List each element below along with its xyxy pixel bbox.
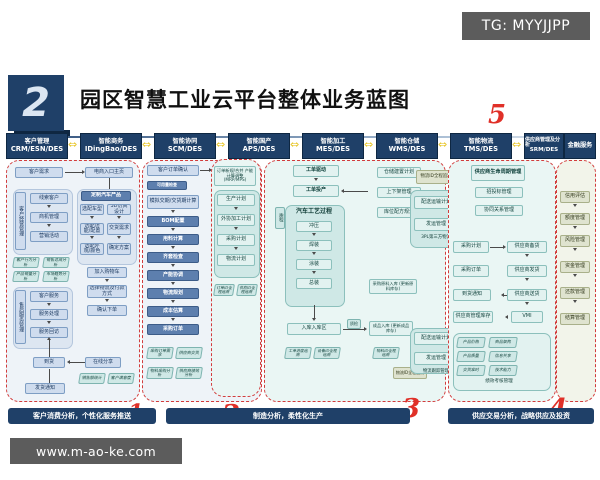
scm-step-5[interactable]: 物流规划 xyxy=(147,288,199,299)
crm-product-3[interactable]: 交货需求 xyxy=(107,223,131,235)
arrow-plan-stock xyxy=(490,247,504,248)
arrowhead-5 xyxy=(90,216,94,219)
srm-purchase-plan[interactable]: 采购计划 xyxy=(453,241,489,253)
mes-process-3[interactable]: 总装 xyxy=(296,278,332,289)
crm-bottom-1[interactable]: 客户满意度 xyxy=(107,373,135,384)
arrowhead-28 xyxy=(312,233,316,236)
srm-purchase-order[interactable]: 采购订单 xyxy=(453,265,489,277)
zone-srm: 供应商生命周期管理 招投标管理 协同关系管理 采购计划 供应商备货 采购订单 供… xyxy=(448,160,556,402)
finance-item-5[interactable]: 结算管理 xyxy=(560,313,590,325)
column-header-scm[interactable]: 智能协同 SCM/DES xyxy=(154,133,216,159)
arrowhead-34 xyxy=(525,254,529,257)
scm-step-7[interactable]: 采购订单 xyxy=(147,324,199,335)
mes-analysis-0[interactable]: 工单进度追溯 xyxy=(284,347,312,359)
aps-plan-1[interactable]: 外协加工计划 xyxy=(217,214,255,226)
arrowhead-4 xyxy=(47,224,51,227)
crm-product-5[interactable]: 确定方案 xyxy=(107,243,131,255)
arrowhead-41 xyxy=(573,248,577,251)
scm-analysis-3[interactable]: 供应商绩效分析 xyxy=(175,367,203,379)
column-header-idingbao[interactable]: 智能商务 IDingBao/DES xyxy=(80,133,142,159)
arrowhead-23 xyxy=(234,207,238,210)
srm-lifecycle-0[interactable]: 招投标管理 xyxy=(475,187,523,198)
finance-item-3[interactable]: 资金管理 xyxy=(560,261,590,273)
crm-product-4[interactable]: 选配外观/颜色 xyxy=(80,243,104,255)
scm-step-6[interactable]: 成本估算 xyxy=(147,306,199,317)
mes-process-0[interactable]: 冲压 xyxy=(296,221,332,232)
blueprint-diagram: 客户管理 CRM/ESN/DES ⇔ 智能商务 IDingBao/DES ⇔ 智… xyxy=(4,132,596,424)
crm-product-2[interactable]: 选配功能/配置 xyxy=(80,223,104,235)
crm-mgmt-1[interactable]: 商机管理 xyxy=(30,212,68,223)
arrowhead-12 xyxy=(47,321,51,324)
scm-step-1[interactable]: BOM配置 xyxy=(147,216,199,227)
banner-crm: 客户消费分析，个性化服务推送 xyxy=(8,408,156,424)
column-header-aps[interactable]: 智能国产 APS/DES xyxy=(228,133,290,159)
mes-process-1[interactable]: 焊装 xyxy=(296,240,332,251)
arrowhead-40 xyxy=(573,226,577,229)
mes-finished[interactable]: 成品入库 (更新成品库存) xyxy=(369,321,413,336)
arrowhead-9 xyxy=(105,279,109,282)
mes-wo-start[interactable]: 工单投产 xyxy=(293,185,339,197)
telegram-watermark-badge: TG: MYYJJPP xyxy=(462,12,590,40)
finance-item-0[interactable]: 信用评估 xyxy=(560,191,590,203)
crm-analysis-1[interactable]: 销售达成分析 xyxy=(42,257,70,268)
crm-analysis-0[interactable]: 客户行为分析 xyxy=(12,257,40,268)
crm-cart[interactable]: 加入购物车 xyxy=(87,267,127,278)
scm-step-4[interactable]: 产能协调 xyxy=(147,270,199,281)
arrowhead-42 xyxy=(573,274,577,277)
arrowhead-22 xyxy=(171,318,175,321)
srm-vendor-ship[interactable]: 供应商发货 xyxy=(507,265,547,277)
crm-share[interactable]: 在线分享 xyxy=(85,357,121,368)
crm-service-1[interactable]: 服务处理 xyxy=(30,309,68,320)
column-header-strip: 客户管理 CRM/ESN/DES ⇔ 智能商务 IDingBao/DES ⇔ 智… xyxy=(4,132,596,158)
header-arrow-icon-4: ⇔ xyxy=(290,140,299,149)
arrowhead-33 xyxy=(503,245,506,249)
arrowhead-21 xyxy=(171,300,175,303)
arrowhead-20 xyxy=(171,282,175,285)
arrowhead-6 xyxy=(117,216,121,219)
srm-arrive-notice[interactable]: 到货通知 xyxy=(453,289,491,301)
arrowhead-32 xyxy=(364,327,367,331)
scm-analysis-2[interactable]: 物料采购分析 xyxy=(146,367,174,379)
crm-demand[interactable]: 客户需求 xyxy=(15,167,63,178)
srm-kpi-2[interactable]: 产品质量 xyxy=(456,351,486,362)
site-watermark: www.m-ao-ke.com xyxy=(10,438,182,464)
scm-step-0[interactable]: 模拟交期/交货期计算 xyxy=(147,195,199,209)
crm-analysis-2[interactable]: 产品销量分析 xyxy=(12,271,40,282)
header-arrow-icon-7: ⇔ xyxy=(512,140,521,149)
aps-trace-0[interactable]: 订单ID全程追溯 xyxy=(213,284,235,296)
srm-vendor-supply[interactable]: 供应商送货 xyxy=(507,289,547,301)
arrowhead-24 xyxy=(234,227,238,230)
page-title: 园区智慧工业云平台整体业务蓝图 xyxy=(80,84,410,114)
column-header-srm[interactable]: 供应商管理及分析 SRM/DES xyxy=(524,133,564,159)
scm-feasible[interactable]: 可用量检查 xyxy=(147,181,187,190)
crm-order[interactable]: 确认下单 xyxy=(87,305,127,316)
slide-canvas: 2 园区智慧工业云平台整体业务蓝图 5 客户管理 CRM/ESN/DES ⇔ 智… xyxy=(0,58,600,430)
arrowhead-25 xyxy=(234,247,238,250)
aps-plan-2[interactable]: 采购计划 xyxy=(217,234,255,246)
zone-finance: 信用评估 额度管理 风险管理 资金管理 还款管理 结算管理 xyxy=(556,160,596,402)
arrowhead-19 xyxy=(171,264,175,267)
header-arrow-icon-5: ⇔ xyxy=(364,140,373,149)
srm-kpi-4[interactable]: 交货准时 xyxy=(456,365,486,376)
zone-scm: 客户订单确认 可用量检查 模拟交期/交货期计算 BOM配置 用料计算 齐套检查 … xyxy=(142,160,262,402)
arrowhead-3 xyxy=(47,205,51,208)
scm-analysis-1[interactable]: 供应商交货 xyxy=(175,347,203,359)
crm-mgmt-0[interactable]: 线索客户 xyxy=(30,193,68,204)
arrowhead-7 xyxy=(90,236,94,239)
banner-supply: 供应交易分析，战略供应及投资 xyxy=(448,408,594,424)
arrowhead-17 xyxy=(171,228,175,231)
aps-plan-3[interactable]: 物流计划 xyxy=(217,254,255,266)
header-arrow-icon-3: ⇔ xyxy=(216,140,225,149)
srm-lifecycle-1[interactable]: 协同关系管理 xyxy=(475,205,523,216)
column-header-wms[interactable]: 智能仓储 WMS/DES xyxy=(376,133,438,159)
arrowhead-29 xyxy=(312,252,316,255)
srm-kpi-label: 绩效考核管理 xyxy=(469,378,529,387)
crm-arrive[interactable]: 到货 xyxy=(33,357,65,368)
column-header-tms[interactable]: 智能物流 TMS/DES xyxy=(450,133,512,159)
mes-wo-drive[interactable]: 工单驱动 xyxy=(293,165,339,177)
header-arrow-icon-6: ⇔ xyxy=(438,140,447,149)
crm-product-label: 定制汽车产品 xyxy=(81,191,131,201)
arrowhead-30 xyxy=(312,271,316,274)
finance-item-1[interactable]: 额度管理 xyxy=(560,213,590,225)
crm-portal[interactable]: 电商入口主页 xyxy=(85,167,133,178)
arrow-demand-portal xyxy=(65,172,83,173)
zone-aps: 订单新规/合并 产能计算调整 (MRP/MPS) 生产计划 外协加工计划 采购计… xyxy=(211,159,261,397)
arrowhead-43 xyxy=(573,300,577,303)
srm-kpi-0[interactable]: 产品价格 xyxy=(456,337,486,348)
mes-qc-label: 质检 xyxy=(275,207,285,229)
scm-confirm[interactable]: 客户订单确认 xyxy=(147,165,199,176)
arrowhead-18 xyxy=(171,246,175,249)
arrowhead-37 xyxy=(525,302,529,305)
arrow-share-arrive xyxy=(70,362,86,363)
wms-item-0[interactable]: 仓储建置计划 xyxy=(377,167,421,178)
arrowhead-35 xyxy=(525,278,529,281)
crm-analysis-3[interactable]: 市场趋势分析 xyxy=(42,271,70,282)
finance-item-4[interactable]: 还款管理 xyxy=(560,287,590,299)
crm-product-0[interactable]: 选配车型 xyxy=(80,204,104,215)
srm-kpi-5[interactable]: 技术能力 xyxy=(488,365,518,376)
mes-stock-in[interactable]: 入库入库区 xyxy=(287,323,341,335)
arrow-process-stockin xyxy=(314,305,315,319)
scm-step-2[interactable]: 用料计算 xyxy=(147,234,199,245)
srm-kpi-3[interactable]: 信息共享 xyxy=(488,351,518,362)
mes-analysis-1[interactable]: 设备ID全程追溯 xyxy=(313,347,341,359)
arrow-service-arrive xyxy=(49,339,50,357)
scm-analysis-0[interactable]: 采购订单需求 xyxy=(146,347,174,359)
header-arrow-icon-2: ⇔ xyxy=(142,140,151,149)
srm-vendor-stock[interactable]: 供应商备货 xyxy=(507,241,547,253)
arrowhead-11 xyxy=(47,303,51,306)
mes-qc2: 质检 xyxy=(347,319,361,329)
arrow-into-wo xyxy=(344,191,368,192)
crm-ship-notice[interactable]: 发货通知 xyxy=(25,383,65,394)
screenshot-root: TG: MYYJJPP 2 园区智慧工业云平台整体业务蓝图 5 客户管理 CRM… xyxy=(0,0,600,480)
mes-process-2[interactable]: 涂装 xyxy=(296,259,332,270)
srm-vmi[interactable]: VMI xyxy=(511,311,543,323)
column-header-finance[interactable]: 金融服务 xyxy=(564,133,596,159)
arrowhead-26 xyxy=(314,178,318,181)
crm-mgmt-label: 客户经营管理 xyxy=(15,192,26,250)
mes-process-label: 汽车工艺过程 xyxy=(287,207,341,218)
crm-service-label: 售后服务管理 xyxy=(15,290,26,344)
crm-pay[interactable]: 选择物流及付款方式 xyxy=(87,285,127,298)
srm-lifecycle-label: 供应商生命周期管理 xyxy=(471,165,525,181)
aps-trace-1[interactable]: 供应ID全程追溯 xyxy=(236,284,258,296)
column-header-mes[interactable]: 智能加工 MES/DES xyxy=(302,133,364,159)
crm-mgmt-2[interactable]: 营销活动 xyxy=(30,231,68,242)
finance-item-2[interactable]: 风险管理 xyxy=(560,235,590,247)
arrowhead-39 xyxy=(573,204,577,207)
arrow-supply-notice xyxy=(503,295,507,296)
crm-product-1[interactable]: 3D仿真设计 xyxy=(107,204,131,215)
mes-material-in[interactable]: 采购原料入库 (更新原料库存) xyxy=(369,279,417,294)
header-arrow-icon-1: ⇔ xyxy=(68,140,77,149)
aps-mrp-label: 订单新规/合并 产能计算调整 (MRP/MPS) xyxy=(214,166,256,186)
arrowhead-14 xyxy=(47,337,51,340)
column-header-crm[interactable]: 客户管理 CRM/ESN/DES xyxy=(6,133,68,159)
section-number-badge: 2 xyxy=(8,75,64,131)
arrowhead-10 xyxy=(105,299,109,302)
crm-bottom-0[interactable]: 销售额统计 xyxy=(78,373,106,384)
mes-analysis-2[interactable]: 物料ID全程追溯 xyxy=(372,347,400,359)
arrowhead-38 xyxy=(505,315,508,319)
arrowhead-16 xyxy=(171,210,175,213)
marker-5: 5 xyxy=(488,100,506,130)
crm-service-0[interactable]: 客户服务 xyxy=(30,291,68,302)
arrow-arrive-notice xyxy=(49,369,50,383)
arrowhead-31 xyxy=(312,318,316,321)
arrow-stockin-finished xyxy=(343,329,365,330)
aps-plan-0[interactable]: 生产计划 xyxy=(217,194,255,206)
srm-manage-stock[interactable]: 供应商管理库存 xyxy=(453,311,493,323)
scm-step-3[interactable]: 齐套检查 xyxy=(147,252,199,263)
zone-crm: 客户需求 电商入口主页 客户经营管理 线索客户 商机管理 营销活动 定制汽车产品… xyxy=(6,160,140,402)
arrowhead-8 xyxy=(117,236,121,239)
banner-manufacturing: 制造分析，柔性化生产 xyxy=(166,408,410,424)
srm-kpi-1[interactable]: 商品架构 xyxy=(488,337,518,348)
